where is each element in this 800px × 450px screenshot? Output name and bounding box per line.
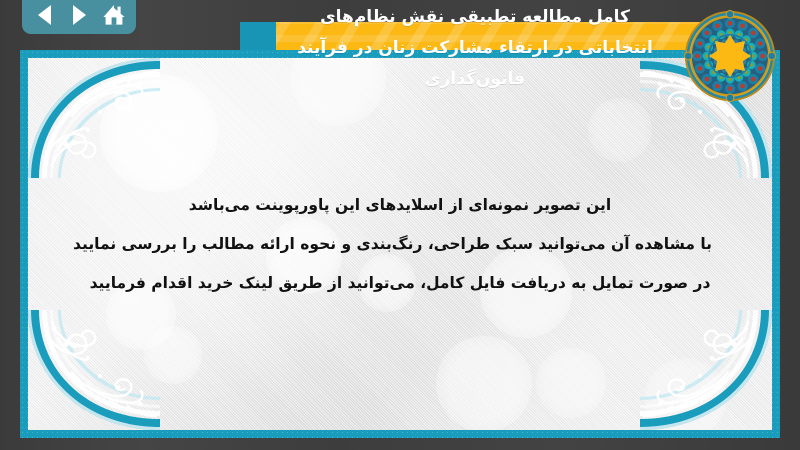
triangle-right-icon [73, 5, 86, 25]
bokeh-circle [644, 358, 726, 430]
previous-slide-button[interactable] [31, 2, 57, 28]
bokeh-circle [100, 74, 218, 192]
arabesque-corner-ornament-icon [28, 58, 160, 178]
triangle-left-icon [38, 5, 51, 25]
next-slide-button[interactable] [66, 2, 92, 28]
persian-medallion-ornament-icon [682, 8, 778, 104]
body-line-2: با مشاهده آن می‌توانید سبک طراحی، رنگ‌بن… [88, 225, 712, 264]
body-line-3: در صورت تمایل به دریافت فایل کامل، می‌تو… [88, 264, 712, 303]
slide-content-area: این تصویر نمونه‌ای از اسلایدهای این پاور… [28, 58, 772, 430]
home-button[interactable] [101, 2, 127, 28]
slide-body-text: این تصویر نمونه‌ای از اسلایدهای این پاور… [88, 186, 712, 303]
navigation-toolbar [22, 0, 136, 34]
bokeh-circle [536, 348, 606, 418]
bokeh-circle [144, 326, 202, 384]
body-line-1: این تصویر نمونه‌ای از اسلایدهای این پاور… [88, 186, 712, 225]
home-icon [102, 4, 126, 26]
slide-viewer: کامل مطالعه تطبیقی نقش نظام‌های انتخابات… [0, 0, 800, 450]
slide-frame: این تصویر نمونه‌ای از اسلایدهای این پاور… [20, 50, 780, 438]
arabesque-corner-ornament-icon [640, 310, 772, 430]
bokeh-circle [588, 98, 652, 162]
bokeh-circle [436, 336, 532, 430]
bokeh-circle [290, 58, 386, 126]
arabesque-corner-ornament-icon [28, 310, 160, 430]
